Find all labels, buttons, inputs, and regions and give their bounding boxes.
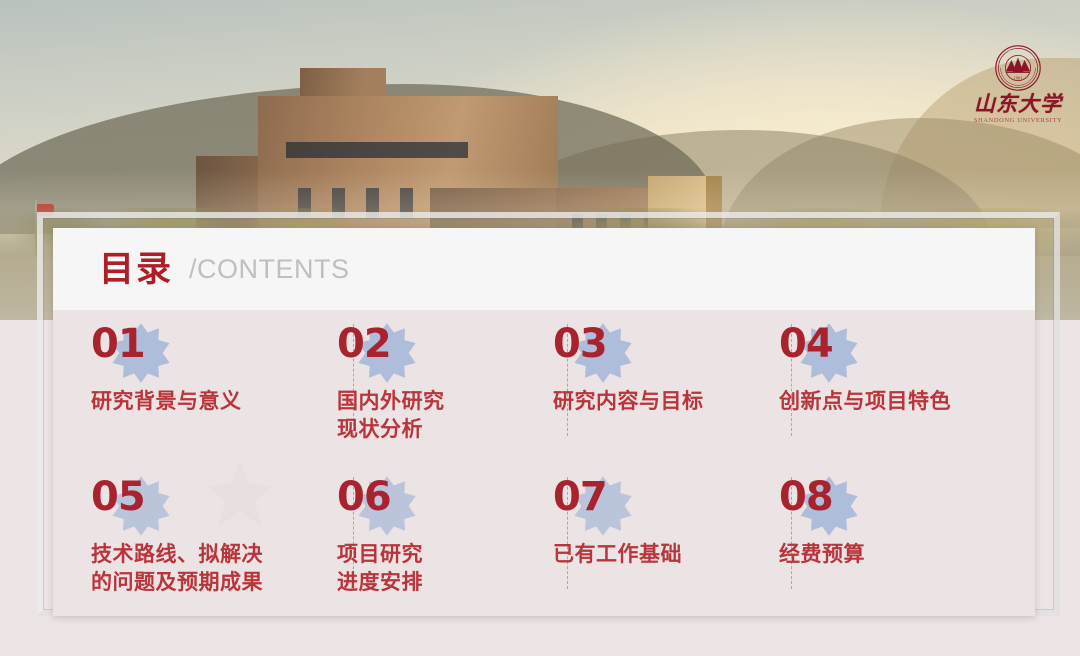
number-badge: 03	[553, 324, 753, 378]
card-header: 目录 /CONTENTS	[53, 228, 1035, 310]
item-label: 技术路线、拟解决的问题及预期成果	[91, 541, 315, 598]
item-label: 研究背景与意义	[91, 388, 315, 416]
svg-text:1901: 1901	[1014, 75, 1023, 80]
item-number: 07	[553, 477, 607, 517]
item-label: 研究内容与目标	[553, 388, 753, 416]
number-badge: 06	[337, 477, 529, 531]
presentation-slide: 1901 山东大学 SHANDONG UNIVERSITY 目录 /CONTEN…	[0, 0, 1080, 656]
page-title-cn: 目录	[99, 252, 173, 287]
item-label: 国内外研究现状分析	[337, 388, 529, 445]
contents-card: 目录 /CONTENTS 01	[53, 228, 1035, 616]
number-badge: 02	[337, 324, 529, 378]
item-number: 03	[553, 324, 607, 364]
university-logo: 1901 山东大学 SHANDONG UNIVERSITY	[972, 44, 1064, 142]
contents-row: 05 技术路线、拟解决的问题及预期成果 06 项目研究进度安排	[53, 463, 1035, 616]
item-number: 01	[91, 324, 145, 364]
item-number: 05	[91, 477, 145, 517]
contents-item-04[interactable]: 04 创新点与项目特色	[753, 310, 1013, 463]
window-band	[286, 142, 468, 158]
contents-row: 01 研究背景与意义 02 国内外研究现状分析	[53, 310, 1035, 463]
logo-name-cn: 山东大学	[972, 94, 1064, 115]
contents-item-08[interactable]: 08 经费预算	[753, 463, 1013, 616]
number-badge: 04	[779, 324, 1013, 378]
shandong-university-seal-icon: 1901	[994, 44, 1042, 92]
contents-item-05[interactable]: 05 技术路线、拟解决的问题及预期成果	[53, 463, 315, 616]
number-badge: 01	[91, 324, 315, 378]
item-label: 经费预算	[779, 541, 1013, 569]
contents-grid: 01 研究背景与意义 02 国内外研究现状分析	[53, 310, 1035, 616]
item-number: 02	[337, 324, 391, 364]
contents-item-03[interactable]: 03 研究内容与目标	[529, 310, 753, 463]
contents-item-02[interactable]: 02 国内外研究现状分析	[315, 310, 529, 463]
item-number: 06	[337, 477, 391, 517]
contents-item-07[interactable]: 07 已有工作基础	[529, 463, 753, 616]
logo-name-en: SHANDONG UNIVERSITY	[972, 118, 1064, 125]
contents-item-06[interactable]: 06 项目研究进度安排	[315, 463, 529, 616]
page-title-en: /CONTENTS	[189, 256, 350, 283]
contents-item-01[interactable]: 01 研究背景与意义	[53, 310, 315, 463]
item-label: 创新点与项目特色	[779, 388, 1013, 416]
item-number: 08	[779, 477, 833, 517]
item-number: 04	[779, 324, 833, 364]
item-label: 已有工作基础	[553, 541, 753, 569]
number-badge: 07	[553, 477, 753, 531]
item-label: 项目研究进度安排	[337, 541, 529, 598]
number-badge: 08	[779, 477, 1013, 531]
number-badge: 05	[91, 477, 315, 531]
